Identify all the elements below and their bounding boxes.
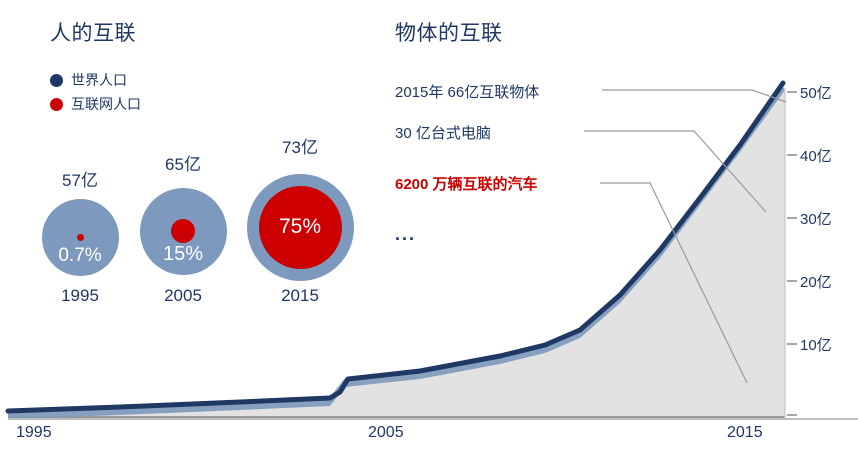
leader-line-connected-things <box>602 90 786 102</box>
y-axis-label-40: 40亿 <box>800 145 832 166</box>
annotation-connected-cars: 6200 万辆互联的汽车 <box>395 173 538 194</box>
y-axis-label-50: 50亿 <box>800 82 832 103</box>
x-axis-label-2015: 2015 <box>727 424 763 442</box>
infographic-root: 人的互联 世界人口 互联网人口 57亿 0.7% 1995 65亿 15% 20… <box>0 0 858 450</box>
y-axis-label-20: 20亿 <box>800 271 832 292</box>
annotation-desktop-computers: 30 亿台式电脑 <box>395 122 491 143</box>
annotation-ellipsis: ... <box>395 224 416 245</box>
y-axis-label-30: 30亿 <box>800 208 832 229</box>
annotation-connected-things: 2015年 66亿互联物体 <box>395 81 539 102</box>
y-axis-label-10: 10亿 <box>800 334 832 355</box>
x-axis-label-2005: 2005 <box>368 424 404 442</box>
x-axis-label-1995: 1995 <box>16 424 52 442</box>
iot-area-chart <box>0 0 858 450</box>
